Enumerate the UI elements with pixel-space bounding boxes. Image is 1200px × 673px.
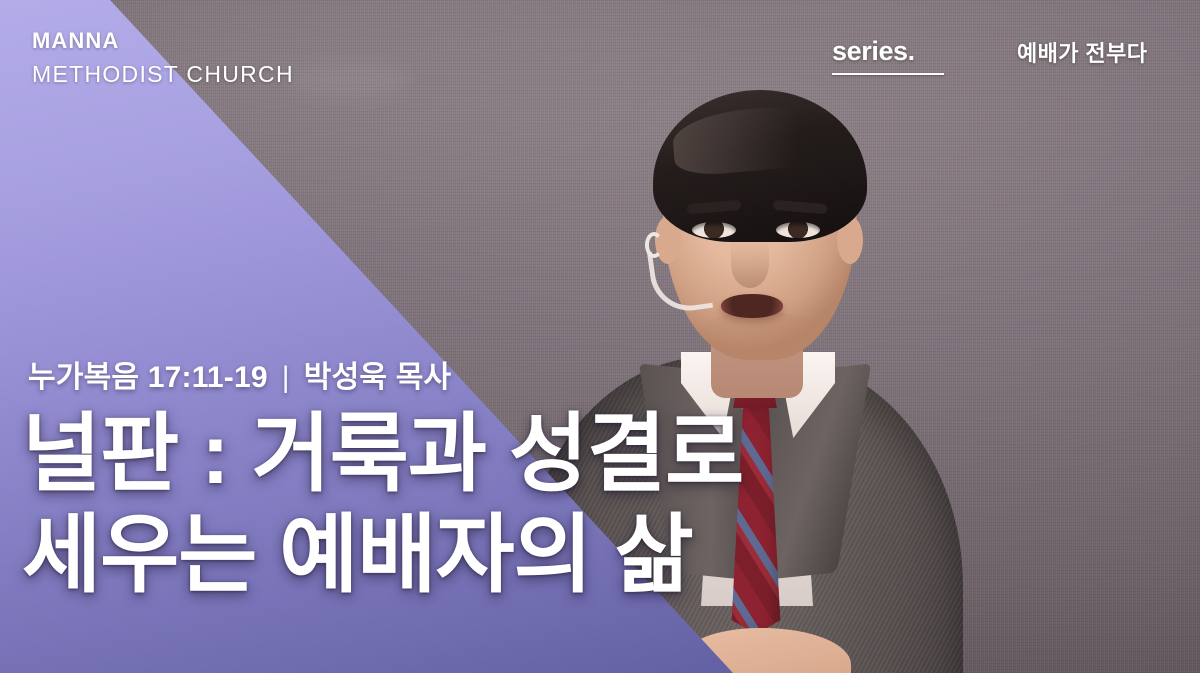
series-underline <box>832 73 944 75</box>
series-badge: series. <box>832 36 944 75</box>
church-name-secondary: METHODIST CHURCH <box>32 63 294 86</box>
church-logo: MANNA METHODIST CHURCH <box>32 30 294 86</box>
speaker-name: 박성욱 목사 <box>304 361 452 394</box>
sermon-title-card: MANNA METHODIST CHURCH series. 예배가 전부다 누… <box>0 0 1200 673</box>
scripture-reference: 누가복음 17:11-19 <box>28 361 268 394</box>
mouth <box>721 294 783 318</box>
series-label: series. <box>832 36 944 67</box>
wall-blotch <box>290 60 410 100</box>
headset-mic-boom-icon <box>647 244 713 315</box>
sermon-title: 널판 : 거룩과 성결로 세우는 예배자의 삶 <box>22 404 743 607</box>
scripture-and-speaker: 누가복음 17:11-19|박성욱 목사 <box>28 352 451 396</box>
church-name-primary: MANNA <box>32 30 294 52</box>
sermon-title-line-1: 널판 : 거룩과 성결로 <box>22 404 743 505</box>
eye-left <box>692 222 736 238</box>
chin <box>687 312 833 368</box>
nose <box>731 240 769 288</box>
eye-right <box>776 222 820 238</box>
reference-separator: | <box>282 361 290 394</box>
series-name: 예배가 전부다 <box>1017 36 1147 68</box>
sermon-title-line-2: 세우는 예배자의 삶 <box>22 505 743 606</box>
